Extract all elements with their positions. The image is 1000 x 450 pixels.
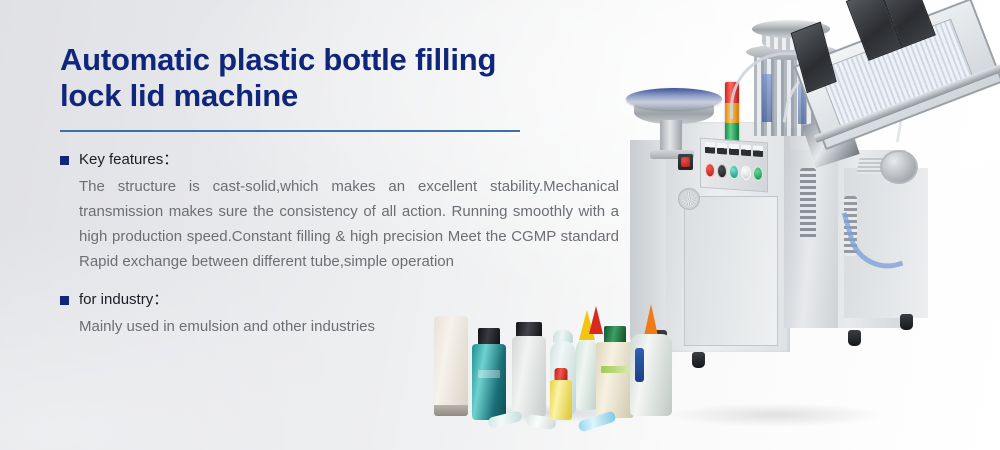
panel-switch[interactable]	[729, 144, 739, 156]
panel-button-teal[interactable]	[729, 165, 739, 180]
machine-foot	[848, 330, 861, 346]
bottle-yellow-red-cap	[550, 368, 572, 420]
emergency-stop-icon	[681, 157, 690, 167]
machine-foot	[900, 314, 913, 330]
square-bullet-icon	[60, 156, 69, 165]
nozzle-cap-icon	[644, 304, 658, 336]
bottle-orange-nozzle	[630, 304, 672, 416]
bottle-teal-black-cap	[472, 328, 506, 420]
emergency-stop-button[interactable]	[678, 154, 693, 170]
text-column: Automatic plastic bottle filling lock li…	[60, 42, 620, 339]
machine-foot	[692, 352, 705, 368]
industry-section: for industry： Mainly used in emulsion an…	[60, 290, 620, 339]
bottle-body	[550, 380, 572, 420]
key-features-label: Key features：	[79, 150, 178, 170]
panel-button-green[interactable]	[753, 166, 763, 181]
key-features-heading-row: Key features：	[60, 150, 620, 170]
panel-button-dark[interactable]	[717, 164, 727, 179]
industry-body: Mainly used in emulsion and other indust…	[79, 314, 619, 339]
product-banner: Automatic plastic bottle filling lock li…	[0, 0, 1000, 450]
panel-button-white[interactable]	[741, 165, 751, 180]
bottle-label	[601, 366, 629, 373]
title-line-2: lock lid machine	[60, 78, 298, 113]
bottle-label	[478, 370, 500, 378]
fan-vent-icon	[678, 188, 700, 210]
key-features-section: Key features： The structure is cast-soli…	[60, 150, 620, 274]
bowl-feeder-rim	[626, 88, 722, 110]
machine-cabinet-door	[684, 196, 778, 346]
panel-switch[interactable]	[741, 144, 751, 156]
industry-label: for industry：	[79, 290, 168, 310]
title-divider	[60, 130, 520, 132]
page-title: Automatic plastic bottle filling lock li…	[60, 42, 620, 114]
tube-cap	[434, 405, 468, 416]
panel-switch[interactable]	[705, 142, 715, 154]
bottle-body	[512, 336, 546, 418]
bowl-feeder-stem	[660, 120, 682, 154]
bottle-body	[472, 344, 506, 420]
key-features-body: The structure is cast-solid,which makes …	[79, 174, 619, 274]
magazine-motor	[880, 150, 918, 184]
panel-switch[interactable]	[753, 145, 763, 157]
panel-button-red[interactable]	[705, 163, 715, 178]
title-line-1: Automatic plastic bottle filling	[60, 42, 496, 77]
industry-heading-row: for industry：	[60, 290, 620, 310]
machine-spring	[800, 168, 816, 240]
bottle-blue-label	[635, 348, 644, 382]
square-bullet-icon	[60, 296, 69, 305]
panel-switch[interactable]	[717, 143, 727, 155]
